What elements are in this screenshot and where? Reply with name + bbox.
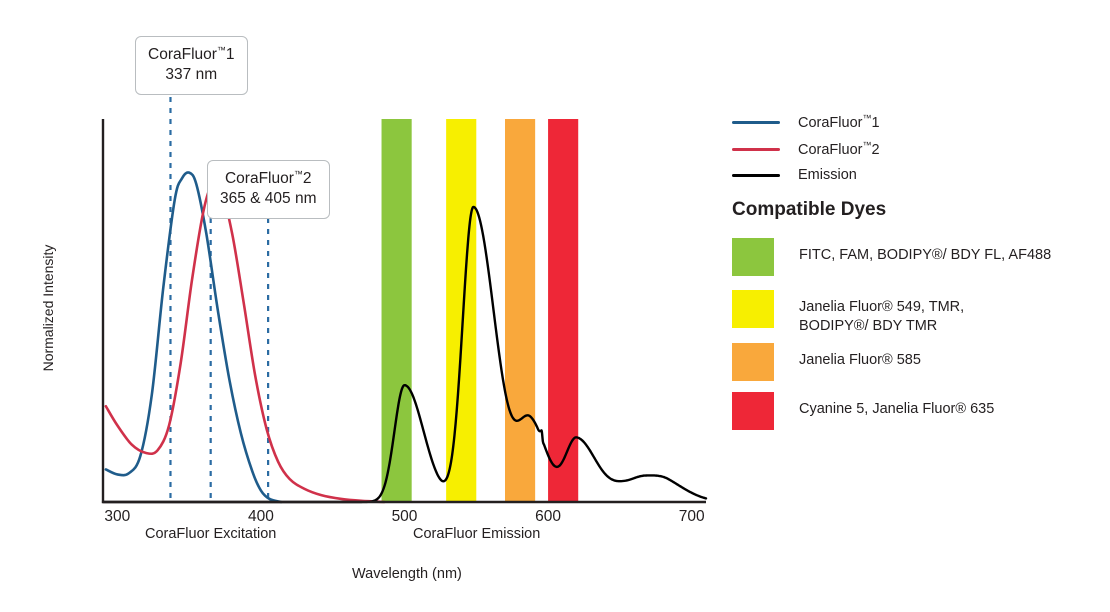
figure-root: 300400500600700 Normalized Intensity Cor…	[0, 0, 1110, 612]
legend-label-emission: Emission	[798, 167, 857, 183]
callout-coraflour-2: CoraFluor™2 365 & 405 nm	[207, 160, 330, 219]
dye-label-red: Cyanine 5, Janelia Fluor® 635	[799, 392, 994, 419]
x-axis-title: Wavelength (nm)	[352, 566, 462, 582]
legend-line-icon	[732, 121, 780, 124]
dye-swatch-yellow	[732, 290, 774, 328]
dye-swatch-green	[732, 238, 774, 276]
compatible-dyes-heading: Compatible Dyes	[732, 199, 886, 221]
dye-item-red: Cyanine 5, Janelia Fluor® 635	[732, 392, 994, 430]
dye-item-green: FITC, FAM, BODIPY®/ BDY FL, AF488	[732, 238, 1051, 276]
dye-item-orange: Janelia Fluor® 585	[732, 343, 921, 381]
curve-coraflour-2	[106, 181, 385, 502]
x-tick-label-600: 600	[535, 508, 561, 525]
legend-line-icon	[732, 148, 780, 151]
dye-swatch-orange	[732, 343, 774, 381]
legend-item-coraflour-1: CoraFluor™1	[732, 113, 880, 131]
axis-sublabel-emission: CoraFluor Emission	[413, 526, 540, 542]
dye-item-yellow: Janelia Fluor® 549, TMR, BODIPY®/ BDY TM…	[732, 290, 964, 337]
legend-item-emission: Emission	[732, 166, 857, 184]
green-band	[382, 119, 412, 502]
x-tick-label-500: 500	[392, 508, 418, 525]
y-axis-title: Normalized Intensity	[40, 218, 56, 398]
callout-1-line2: 337 nm	[165, 66, 217, 83]
orange-band	[505, 119, 535, 502]
legend-label-coraflour-2: CoraFluor™2	[798, 140, 880, 158]
callout-2-line2: 365 & 405 nm	[220, 190, 317, 207]
x-tick-label-300: 300	[104, 508, 130, 525]
callout-1-line1: CoraFluor™1	[148, 46, 235, 63]
callout-2-line1: CoraFluor™2	[225, 170, 312, 187]
yellow-band	[446, 119, 476, 502]
legend-line-icon	[732, 174, 780, 177]
dye-swatch-red	[732, 392, 774, 430]
dye-label-yellow: Janelia Fluor® 549, TMR, BODIPY®/ BDY TM…	[799, 290, 964, 337]
red-band	[548, 119, 578, 502]
curve-coraflour-1	[106, 172, 281, 502]
axis-sublabel-excitation: CoraFluor Excitation	[145, 526, 276, 542]
spectra-chart: 300400500600700 Normalized Intensity Cor…	[0, 0, 720, 612]
dye-label-orange: Janelia Fluor® 585	[799, 343, 921, 370]
x-tick-label-400: 400	[248, 508, 274, 525]
legend-label-coraflour-1: CoraFluor™1	[798, 113, 880, 131]
callout-coraflour-1: CoraFluor™1 337 nm	[135, 36, 248, 95]
spectra-plot-svg: 300400500600700	[0, 0, 720, 612]
x-tick-label-700: 700	[679, 508, 705, 525]
legend-panel: CoraFluor™1 CoraFluor™2 Emission Compati…	[728, 0, 1110, 612]
dye-label-green: FITC, FAM, BODIPY®/ BDY FL, AF488	[799, 238, 1051, 265]
legend-item-coraflour-2: CoraFluor™2	[732, 140, 880, 158]
